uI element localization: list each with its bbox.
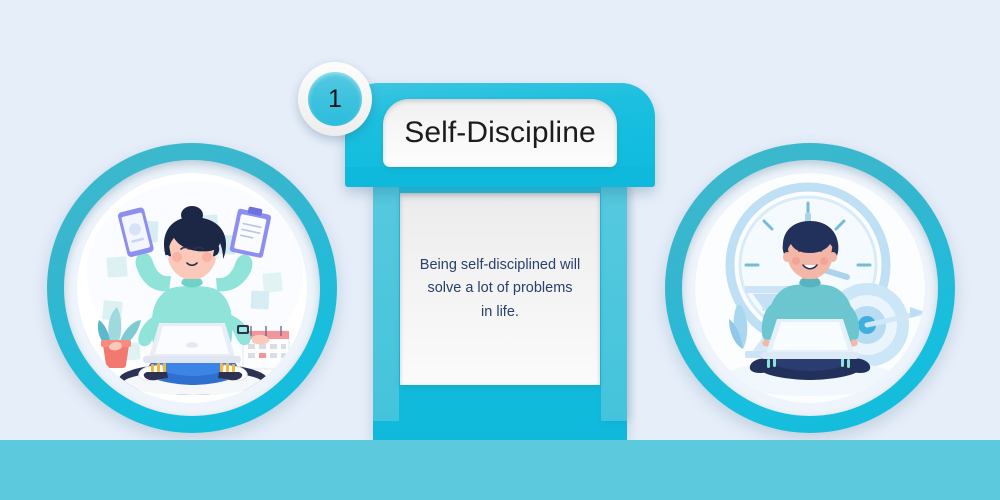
step-number-badge-inner: 1 [308, 72, 362, 126]
multitasking-woman-illustration [77, 173, 307, 403]
step-number-value: 1 [328, 87, 342, 112]
card-title-plate: Self-Discipline [383, 99, 617, 167]
left-illustration-circle [47, 143, 337, 433]
focused-man-clock-illustration [695, 173, 925, 403]
right-circle-inner [695, 173, 925, 403]
infographic-canvas: Being self-disciplined will solve a lot … [0, 0, 1000, 500]
card-rail-left [373, 179, 399, 421]
card-body-panel: Being self-disciplined will solve a lot … [400, 193, 600, 385]
right-illustration-circle [665, 143, 955, 433]
card-title: Self-Discipline [404, 116, 596, 150]
step-number-badge: 1 [298, 62, 372, 136]
content-card: Being self-disciplined will solve a lot … [345, 83, 655, 440]
card-header-bar: Self-Discipline 1 [345, 83, 655, 187]
left-circle-inner [77, 173, 307, 403]
bottom-accent-band [0, 440, 1000, 500]
card-rail-right [601, 179, 627, 421]
card-body-text: Being self-disciplined will solve a lot … [410, 254, 590, 324]
